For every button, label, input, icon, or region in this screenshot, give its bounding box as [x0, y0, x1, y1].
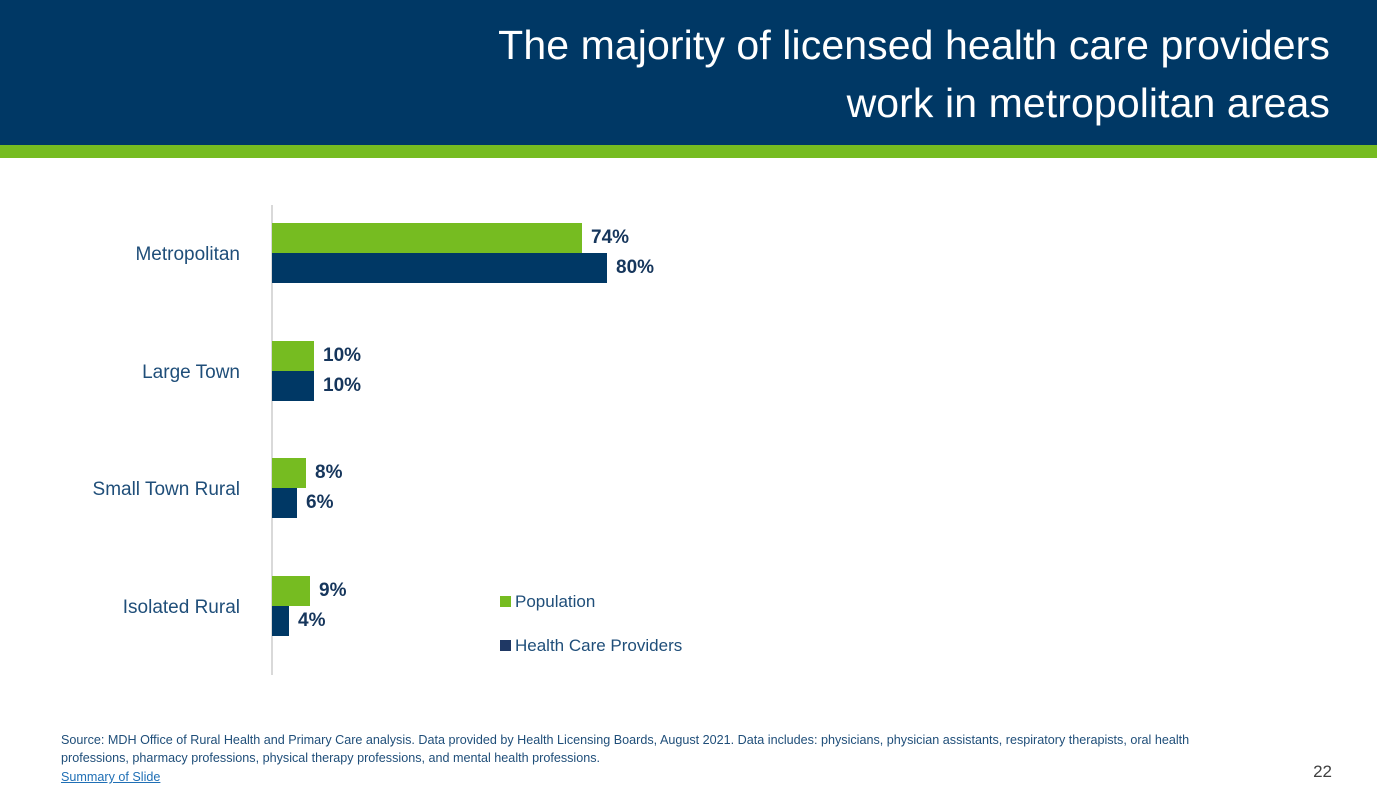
- page-title-line-1: The majority of licensed health care pro…: [330, 16, 1330, 74]
- page-title: The majority of licensed health care pro…: [330, 16, 1330, 132]
- category-label: Small Town Rural: [0, 472, 240, 508]
- bar-value-providers: 10%: [314, 375, 361, 397]
- bar-providers: [272, 371, 314, 401]
- bar-value-population: 9%: [310, 580, 346, 602]
- legend-item-population[interactable]: Population: [500, 592, 595, 612]
- category-label: Large Town: [0, 355, 240, 391]
- chart-category-group: Small Town Rural 8% 6%: [0, 458, 1000, 522]
- bar-value-population: 74%: [582, 227, 629, 249]
- legend-label-population: Population: [515, 592, 595, 612]
- bar-population: [272, 576, 310, 606]
- bar-population: [272, 341, 314, 371]
- legend-swatch-providers-icon: [500, 640, 511, 651]
- legend-item-providers[interactable]: Health Care Providers: [500, 636, 682, 656]
- bar-value-population: 10%: [314, 345, 361, 367]
- header-band: The majority of licensed health care pro…: [0, 0, 1377, 145]
- bar-value-providers: 4%: [289, 610, 325, 632]
- bar-population: [272, 458, 306, 488]
- legend-swatch-population-icon: [500, 596, 511, 607]
- source-text: Source: MDH Office of Rural Health and P…: [61, 733, 1189, 765]
- bar-providers: [272, 488, 297, 518]
- bar-chart: Metropolitan 74% 80% Large Town 10% 10% …: [0, 158, 1377, 718]
- accent-stripe: [0, 145, 1377, 158]
- bar-value-providers: 6%: [297, 492, 333, 514]
- source-note: Source: MDH Office of Rural Health and P…: [61, 731, 1241, 786]
- category-label: Isolated Rural: [0, 590, 240, 626]
- category-label: Metropolitan: [0, 237, 240, 273]
- bar-providers: [272, 606, 289, 636]
- legend-label-providers: Health Care Providers: [515, 636, 682, 656]
- chart-category-group: Large Town 10% 10%: [0, 341, 1000, 405]
- bar-population: [272, 223, 582, 253]
- page-number: 22: [1313, 762, 1332, 782]
- bar-value-population: 8%: [306, 462, 342, 484]
- summary-of-slide-link[interactable]: Summary of Slide: [61, 768, 160, 786]
- bar-providers: [272, 253, 607, 283]
- bar-value-providers: 80%: [607, 257, 654, 279]
- chart-category-group: Metropolitan 74% 80%: [0, 223, 1000, 287]
- page-title-line-2: work in metropolitan areas: [330, 74, 1330, 132]
